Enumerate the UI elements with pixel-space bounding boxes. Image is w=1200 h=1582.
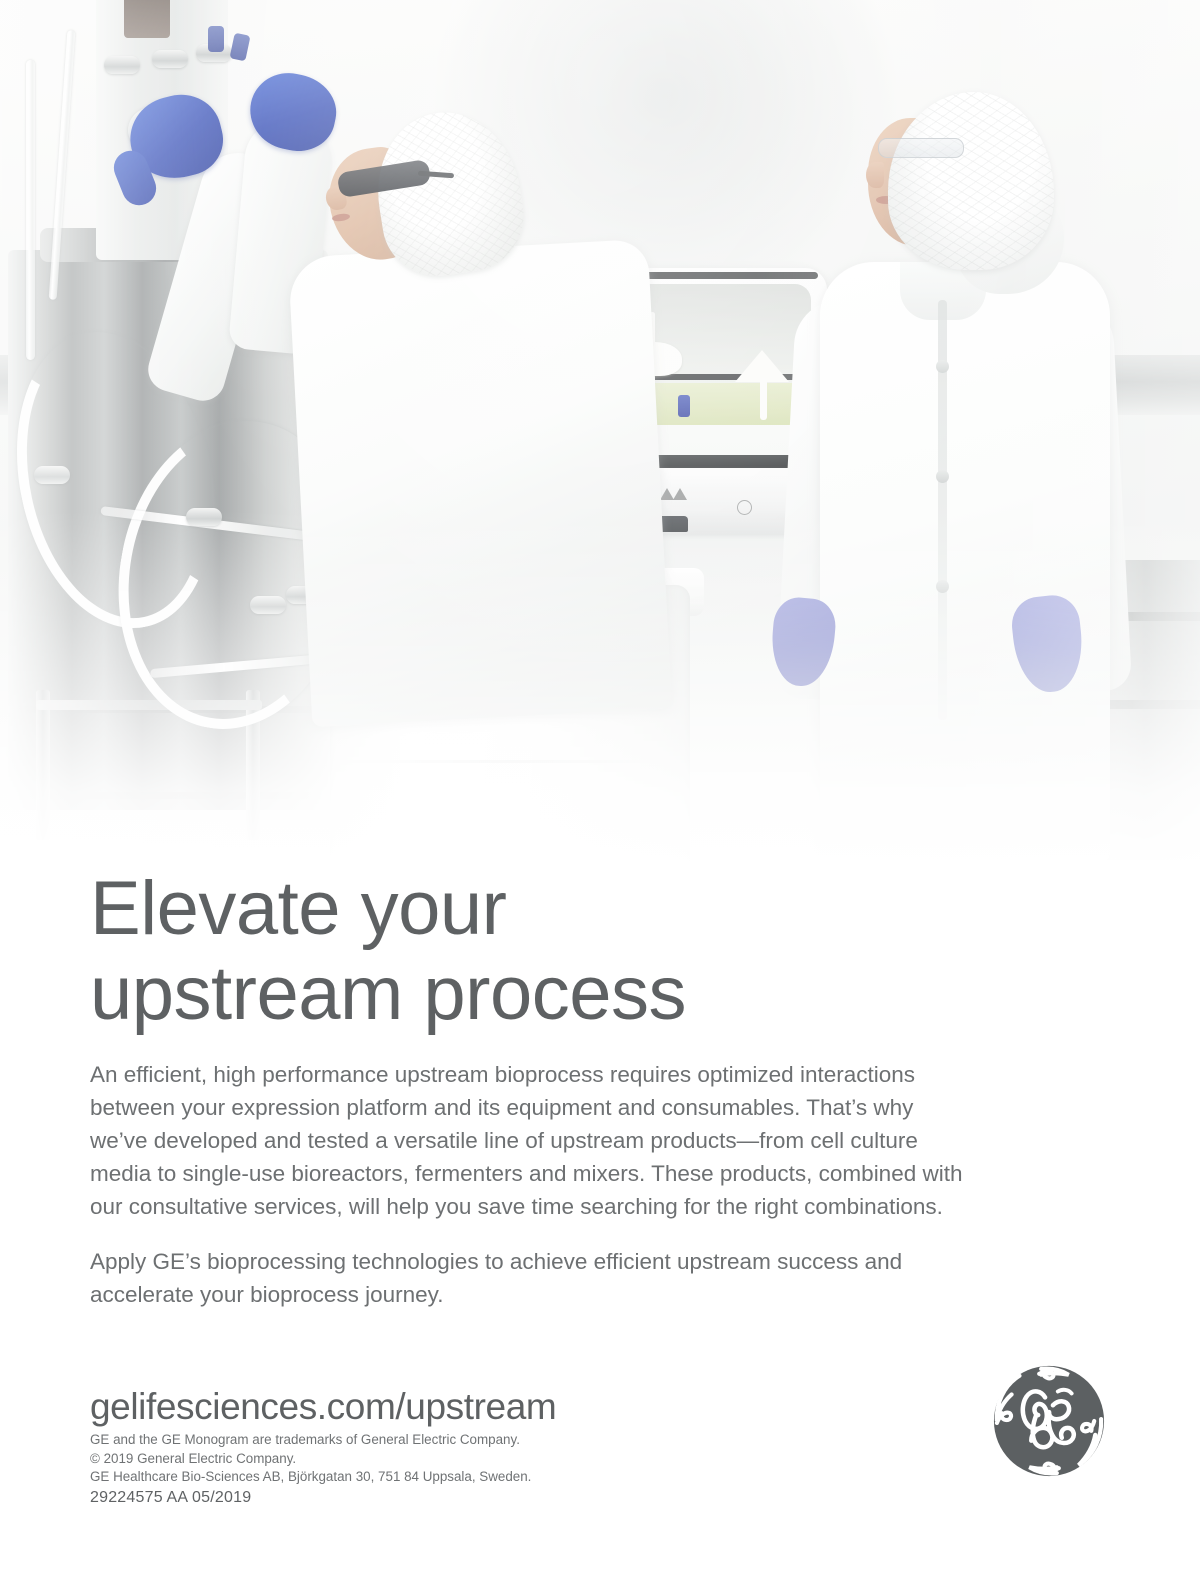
drum-seam — [340, 760, 680, 763]
vessel-band — [8, 792, 328, 799]
nose — [866, 162, 884, 188]
website-url[interactable]: gelifesciences.com/upstream — [90, 1386, 556, 1428]
legal-notice: GE and the GE Monogram are trademarks of… — [90, 1431, 710, 1487]
body-paragraph-2: Apply GE’s bioprocessing technologies to… — [90, 1245, 970, 1311]
coverall-body — [288, 239, 672, 727]
column-block — [124, 0, 170, 38]
legal-line-1: GE and the GE Monogram are trademarks of… — [90, 1431, 710, 1450]
ge-badge-icon — [737, 500, 752, 515]
advertisement-page: Elevate your upstream process An efficie… — [0, 0, 1200, 1582]
blue-tube-clip — [208, 26, 224, 52]
headline-line-1: Elevate your — [90, 866, 990, 951]
page-title: Elevate your upstream process — [90, 866, 990, 1036]
tube-clamp — [250, 596, 286, 614]
body-copy: An efficient, high performance upstream … — [90, 1058, 970, 1311]
tube-clamp — [186, 508, 222, 526]
safety-glasses — [878, 138, 964, 158]
snap-button — [936, 360, 949, 373]
vessel-leg — [36, 690, 50, 840]
tube-clamp — [104, 56, 140, 74]
legal-line-2: © 2019 General Electric Company. — [90, 1450, 710, 1469]
filter-stem — [760, 378, 767, 420]
tubing-line — [26, 60, 35, 360]
legal-line-3: GE Healthcare Bio-Sciences AB, Björkgata… — [90, 1468, 710, 1487]
snap-button — [936, 580, 949, 593]
document-code: 29224575 AA 05/2019 — [90, 1489, 251, 1507]
coverall-body — [820, 262, 1110, 862]
hero-photograph — [0, 0, 1200, 880]
tube-clamp — [34, 466, 70, 484]
snap-button — [936, 470, 949, 483]
headline-line-2: upstream process — [90, 951, 990, 1036]
blue-port-cap — [678, 395, 690, 417]
body-paragraph-1: An efficient, high performance upstream … — [90, 1058, 970, 1223]
ge-monogram-logo — [990, 1362, 1108, 1480]
tube-clamp — [152, 50, 188, 68]
